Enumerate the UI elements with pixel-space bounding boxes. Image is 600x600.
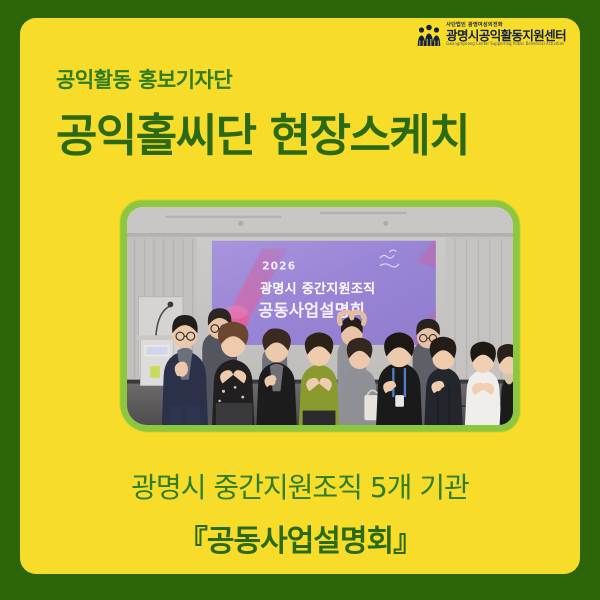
group-photo-illustration: 2026 광명시 중간지원조직 공동사업설명회 xyxy=(127,207,513,425)
kicker-text: 공익활동 홍보기자단 xyxy=(56,64,232,94)
logo-text-group: 사단법인 광명여성의전화 광명시공익활동지원센터 Gwangmyeong Cen… xyxy=(446,23,566,46)
caption-line-1: 광명시 중간지원조직 5개 기관 xyxy=(20,466,580,506)
person-front-2 xyxy=(212,322,254,425)
screen-year: 2026 xyxy=(262,260,296,273)
page-title: 공익홀씨단 현장스케치 xyxy=(56,110,469,162)
group-photo: 2026 광명시 중간지원조직 공동사업설명회 xyxy=(127,207,513,425)
person-front-4 xyxy=(299,332,340,425)
yellow-card-panel: 사단법인 광명여성의전화 광명시공익활동지원센터 Gwangmyeong Cen… xyxy=(20,18,580,574)
promo-card-root: 사단법인 광명여성의전화 광명시공익활동지원센터 Gwangmyeong Cen… xyxy=(0,0,600,600)
logo-org-name: 광명시공익활동지원센터 xyxy=(446,30,566,43)
organization-logo: 사단법인 광명여성의전화 광명시공익활동지원센터 Gwangmyeong Cen… xyxy=(416,22,566,48)
three-people-icon xyxy=(416,22,442,48)
logo-org-english: Gwangmyeong Center Supporting Public Ben… xyxy=(446,43,566,47)
photo-frame: 2026 광명시 중간지원조직 공동사업설명회 xyxy=(120,200,520,432)
screen-line1: 광명시 중간지원조직 xyxy=(260,281,375,297)
caption-line-2: 『공동사업설명회』 xyxy=(20,516,580,560)
